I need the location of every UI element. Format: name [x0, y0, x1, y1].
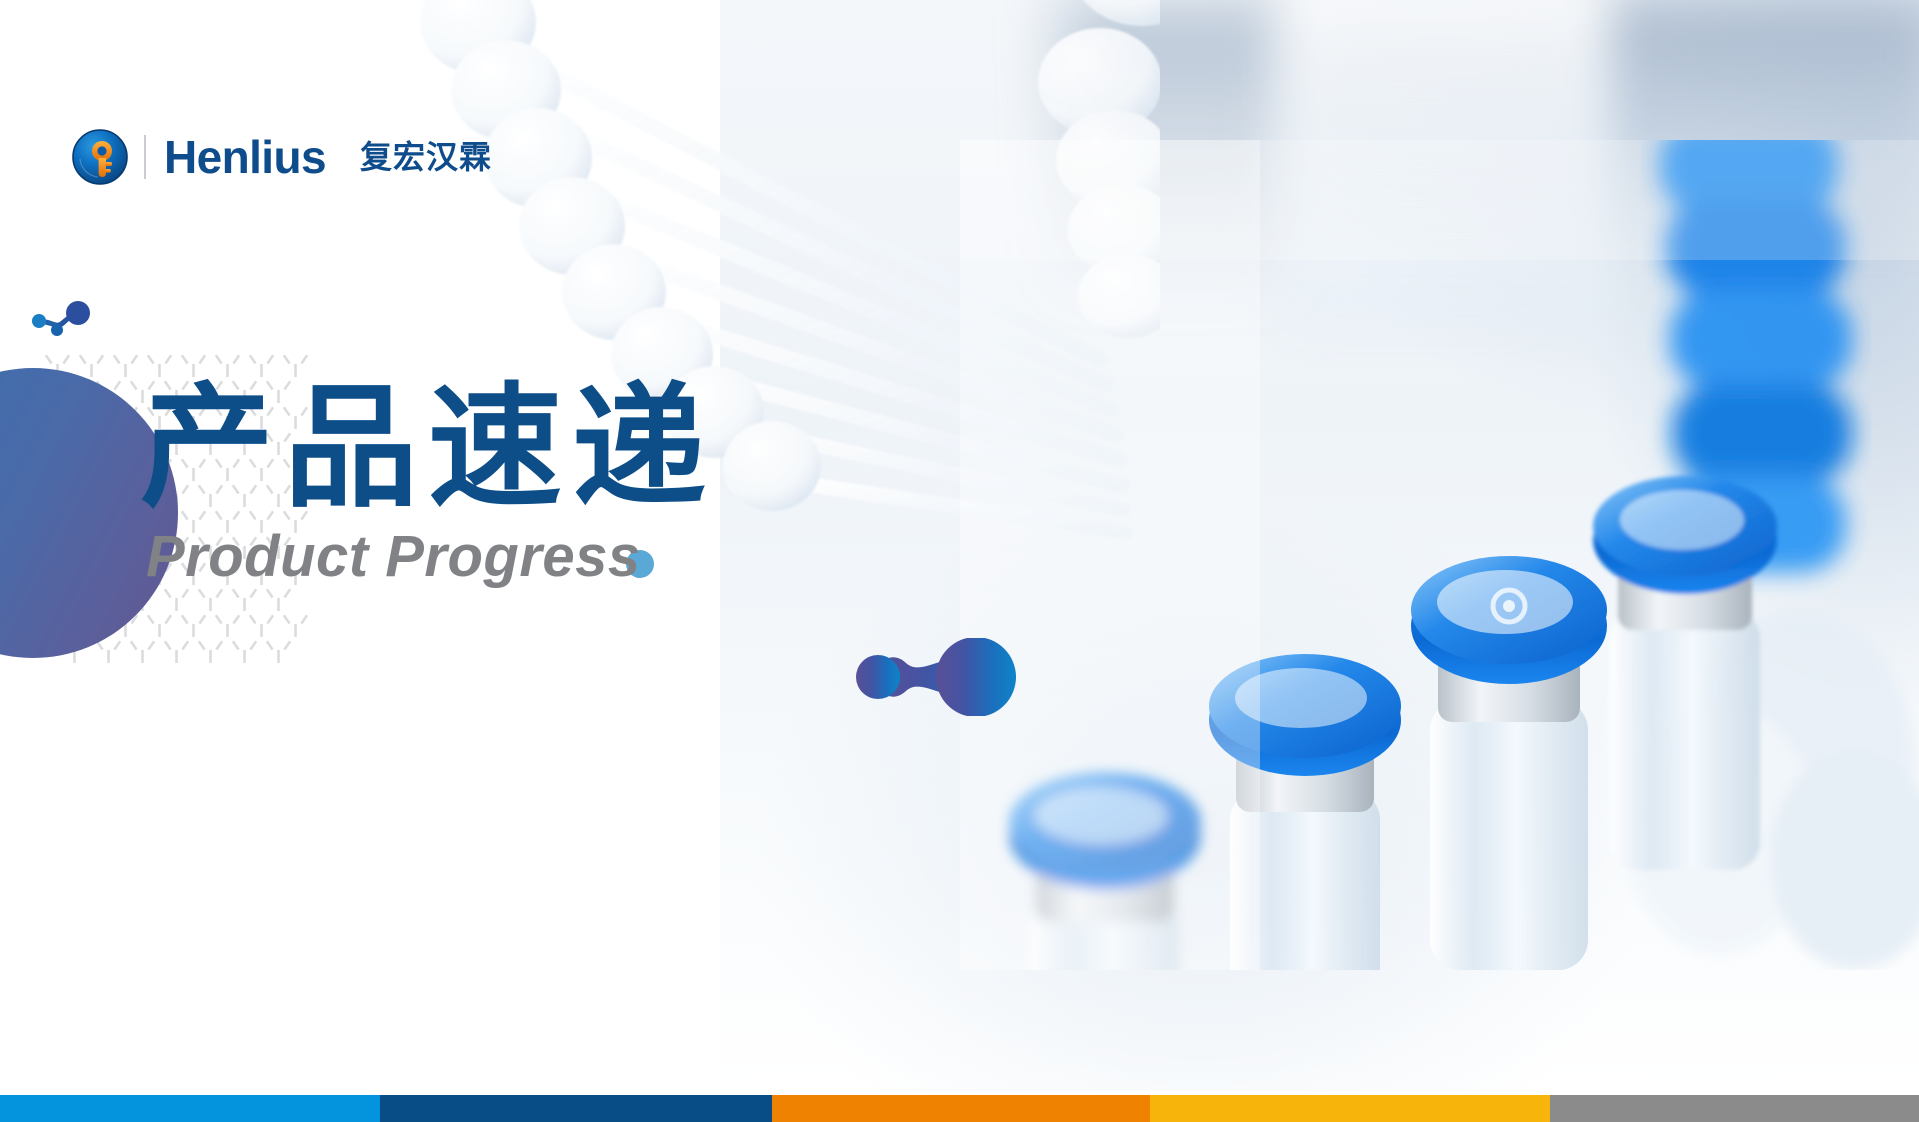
slide-root: Henlius 复宏汉霖 产品速递 Product Progress [0, 0, 1919, 1122]
vials-photo [960, 140, 1919, 970]
bar-segment-dark-blue [380, 1095, 772, 1122]
bar-segment-light-blue [0, 1095, 380, 1122]
bottom-color-bar [0, 1095, 1919, 1122]
bar-segment-amber [1150, 1095, 1550, 1122]
logo-wordmark: Henlius [164, 134, 326, 180]
henlius-logo-mark [72, 129, 128, 185]
molecule-icon-small [26, 300, 96, 354]
bar-segment-orange [772, 1095, 1150, 1122]
page-subtitle-english: Product Progress [146, 528, 641, 586]
molecule-icon-large [848, 638, 1038, 716]
bar-segment-gray [1550, 1095, 1919, 1122]
brand-logo[interactable]: Henlius 复宏汉霖 [72, 126, 492, 188]
page-title-chinese: 产品速递 [140, 378, 716, 519]
logo-divider [144, 135, 146, 179]
logo-chinese-name: 复宏汉霖 [360, 141, 492, 173]
